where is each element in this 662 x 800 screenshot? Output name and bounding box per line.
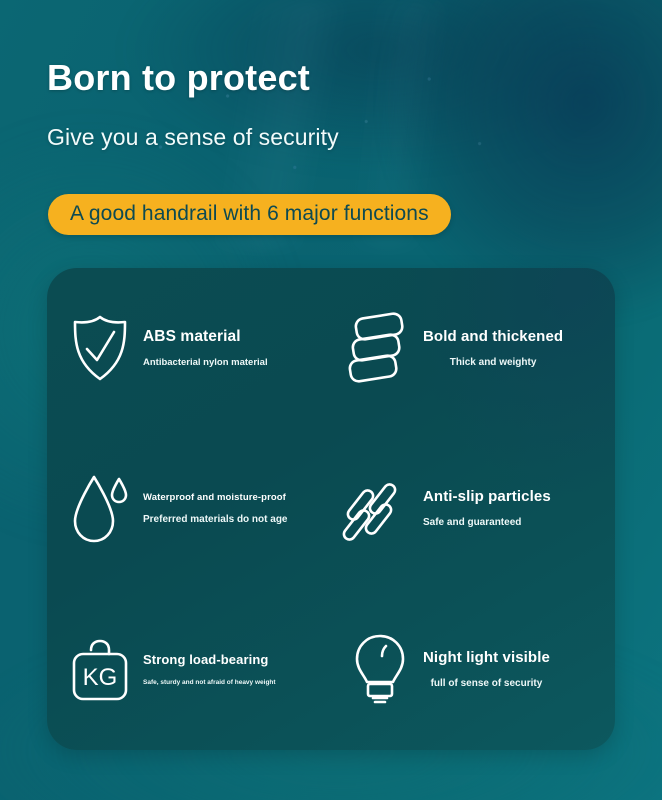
feature-text-abs-material: ABS material Antibacterial nylon materia… — [139, 328, 268, 369]
promo-banner: Born to protect Give you a sense of secu… — [0, 0, 662, 800]
shield-check-icon — [61, 305, 139, 391]
feature-title: ABS material — [143, 328, 268, 347]
feature-subtitle: Preferred materials do not age — [143, 503, 288, 526]
feature-text-waterproof: Waterproof and moisture-proof Preferred … — [139, 492, 288, 526]
feature-subtitle: Thick and weighty — [450, 346, 537, 369]
feature-text-anti-slip: Anti-slip particles Safe and guaranteed — [419, 488, 551, 529]
anti-slip-bars-icon — [341, 466, 419, 552]
feature-text-bold-thickened: Bold and thickened Thick and weighty — [419, 328, 563, 369]
feature-text-night-light: Night light visible full of sense of sec… — [419, 649, 550, 690]
feature-item-abs-material: ABS material Antibacterial nylon materia… — [47, 268, 331, 429]
weight-kg-icon: KG — [61, 627, 139, 713]
features-card: ABS material Antibacterial nylon materia… — [47, 268, 615, 750]
feature-title: Bold and thickened — [423, 328, 563, 346]
hero-text-group: Born to protect Give you a sense of secu… — [47, 58, 607, 151]
feature-subtitle: Antibacterial nylon material — [143, 346, 268, 368]
feature-title: Strong load-bearing — [143, 652, 276, 668]
feature-title: Waterproof and moisture-proof — [143, 492, 288, 503]
feature-item-night-light: Night light visible full of sense of sec… — [331, 589, 615, 750]
feature-title: Night light visible — [423, 649, 550, 667]
feature-item-anti-slip: Anti-slip particles Safe and guaranteed — [331, 429, 615, 590]
highlight-badge-wrapper: A good handrail with 6 major functions — [48, 194, 451, 235]
feature-subtitle: full of sense of security — [431, 667, 543, 690]
feature-item-bold-thickened: Bold and thickened Thick and weighty — [331, 268, 615, 429]
feature-subtitle: Safe, sturdy and not afraid of heavy wei… — [143, 668, 276, 687]
light-bulb-icon — [341, 627, 419, 713]
feature-subtitle: Safe and guaranteed — [423, 506, 551, 529]
feature-title: Anti-slip particles — [423, 488, 551, 506]
feature-item-load-bearing: KG Strong load-bearing Safe, sturdy and … — [47, 589, 331, 750]
feature-item-waterproof: Waterproof and moisture-proof Preferred … — [47, 429, 331, 590]
page-subtitle: Give you a sense of security — [47, 98, 607, 151]
page-title: Born to protect — [47, 58, 607, 98]
highlight-badge: A good handrail with 6 major functions — [48, 194, 451, 235]
stacked-layers-icon — [341, 305, 419, 391]
feature-text-load-bearing: Strong load-bearing Safe, sturdy and not… — [139, 652, 276, 686]
water-drop-icon — [61, 466, 139, 552]
features-grid: ABS material Antibacterial nylon materia… — [47, 268, 615, 750]
weight-icon-label: KG — [83, 664, 118, 691]
